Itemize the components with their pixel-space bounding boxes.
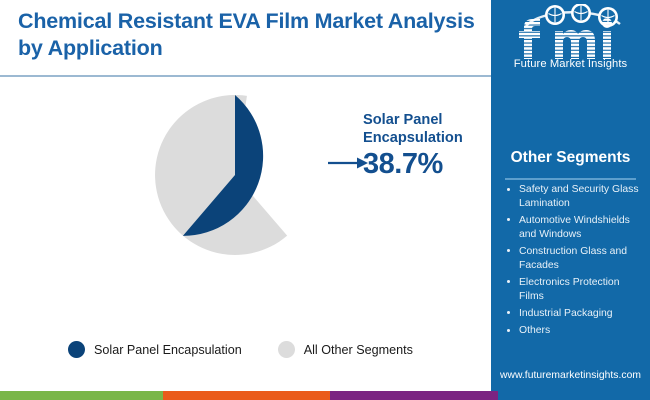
page-title: Chemical Resistant EVA Film Market Analy… (18, 8, 478, 62)
list-item: Industrial Packaging (505, 307, 645, 321)
legend-item: Solar Panel Encapsulation (68, 341, 242, 358)
legend-label: Solar Panel Encapsulation (94, 343, 242, 357)
legend-swatch-icon (278, 341, 295, 358)
list-item-label: Safety and Security Glass Lamination (519, 184, 639, 209)
brand-logo: Future Market Insights (491, 4, 650, 78)
pie-chart (155, 95, 315, 255)
arrow-right-icon (328, 155, 368, 171)
sidebar-heading-underline (505, 178, 636, 180)
list-item: Automotive Windshields and Windows (505, 214, 645, 241)
legend-item: All Other Segments (278, 341, 413, 358)
list-item: Electronics Protection Films (505, 276, 645, 303)
list-item-label: Industrial Packaging (519, 308, 613, 319)
callout-block: Solar Panel Encapsulation 38.7% (363, 112, 491, 179)
footer-segment-green (0, 391, 163, 400)
footer-segment-blue (498, 391, 650, 400)
list-item: Construction Glass and Facades (505, 245, 645, 272)
bullet-icon (507, 218, 510, 221)
list-item-label: Automotive Windshields and Windows (519, 215, 630, 240)
callout-label: Solar Panel Encapsulation (363, 112, 491, 148)
list-item: Safety and Security Glass Lamination (505, 183, 645, 210)
footer-color-bar (0, 391, 650, 400)
footer-segment-purple (330, 391, 498, 400)
footer-segment-orange (163, 391, 330, 400)
bullet-icon (507, 311, 510, 314)
sidebar-heading: Other Segments (491, 149, 650, 167)
chart-legend: Solar Panel Encapsulation All Other Segm… (68, 341, 413, 358)
legend-swatch-icon (68, 341, 85, 358)
brand-tagline: Future Market Insights (491, 58, 650, 70)
legend-label: All Other Segments (304, 343, 413, 357)
bullet-icon (507, 249, 510, 252)
list-item-label: Electronics Protection Films (519, 277, 620, 302)
list-item-label: Others (519, 325, 550, 336)
list-item: Others (505, 324, 645, 338)
website-url[interactable]: www.futuremarketinsights.com (491, 370, 650, 381)
infographic-canvas: Chemical Resistant EVA Film Market Analy… (0, 0, 650, 400)
sidebar: Future Market Insights Other Segments Sa… (491, 0, 650, 391)
bullet-icon (507, 329, 510, 332)
list-item-label: Construction Glass and Facades (519, 246, 627, 271)
other-segments-list: Safety and Security Glass Lamination Aut… (505, 183, 645, 341)
bullet-icon (507, 188, 510, 191)
title-divider (0, 75, 491, 77)
fmi-logo-icon (508, 4, 634, 60)
callout-value: 38.7% (363, 149, 491, 179)
bullet-icon (507, 280, 510, 283)
